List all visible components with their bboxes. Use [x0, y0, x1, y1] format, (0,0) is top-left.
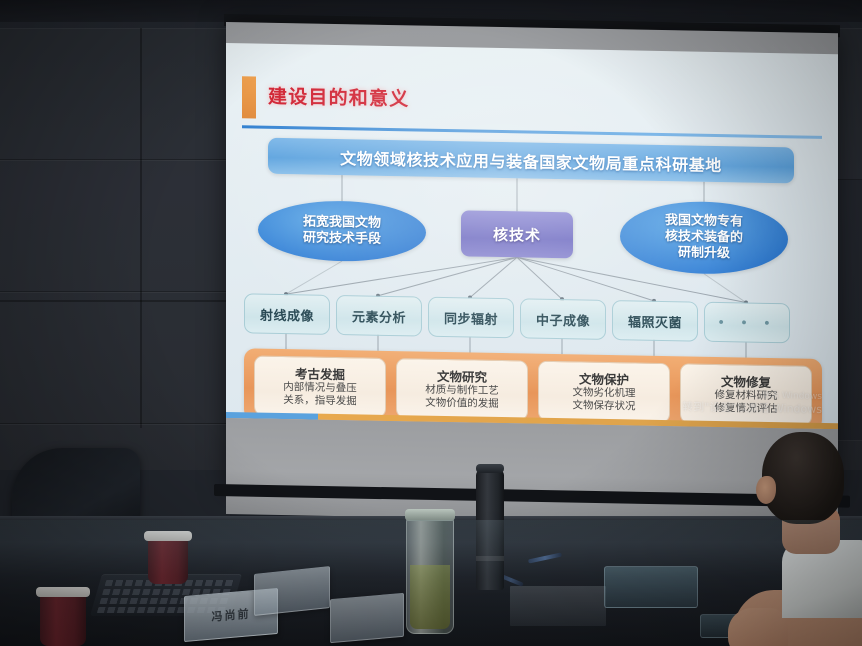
- person-ear: [756, 476, 776, 504]
- goal-left-line1: 拓宽我国文物: [303, 214, 381, 230]
- microphone-top: [476, 464, 504, 473]
- name-plate-text: 冯尚前: [212, 605, 251, 625]
- tech-box-5: 辐照灭菌: [612, 300, 698, 342]
- conference-microphone[interactable]: [476, 470, 504, 590]
- person-head: [762, 432, 844, 524]
- goal-right-line3: 研制升级: [678, 245, 730, 261]
- application-title: 文物修复: [721, 374, 771, 390]
- application-sub: 关系，指导发掘: [283, 394, 357, 408]
- coffee-cup[interactable]: [148, 538, 188, 584]
- application-title: 文物保护: [579, 371, 629, 387]
- application-sub: 文物保存状况: [573, 399, 636, 413]
- tablet-device[interactable]: [604, 566, 698, 608]
- paper-sheet: [510, 586, 606, 626]
- watermark-line-2: 转到"设置"以激活 Windows: [682, 401, 822, 417]
- goal-node-right: 我国文物专有 核技术装备的 研制升级: [620, 200, 788, 275]
- name-plate: [330, 593, 404, 643]
- goal-node-core: 核技术: [461, 210, 573, 258]
- attendee-person: [742, 432, 862, 646]
- tech-box-4: 中子成像: [520, 298, 606, 340]
- conference-room: 建设目的和意义 文物领域核技术应用与装备国家文物局重点科研基地 拓宽我国文物 研…: [0, 0, 862, 646]
- application-sub: 文物劣化机理: [573, 386, 636, 400]
- wall-seam: [140, 28, 142, 428]
- name-plate: [254, 566, 330, 616]
- application-sub: 文物价值的发掘: [425, 396, 499, 410]
- title-divider: [242, 125, 822, 139]
- slide-title: 建设目的和意义: [268, 82, 409, 112]
- tea-leaves: [410, 565, 450, 629]
- title-accent-bar: [242, 76, 256, 118]
- tech-box-3: 同步辐射: [428, 297, 514, 339]
- goal-node-left: 拓宽我国文物 研究技术手段: [258, 200, 426, 263]
- main-banner: 文物领域核技术应用与装备国家文物局重点科研基地: [268, 138, 794, 184]
- microphone-band: [476, 556, 504, 561]
- application-card-2: 文物研究 材质与制作工艺 文物价值的发掘: [396, 358, 528, 420]
- wall-seam: [0, 300, 226, 302]
- wall-panel: [834, 28, 862, 180]
- wall-panel: [0, 28, 230, 160]
- goal-left-line2: 研究技术手段: [303, 230, 381, 246]
- technology-row: 射线成像 元素分析 同步辐射 中子成像 辐照灭菌 • • •: [244, 293, 822, 342]
- person-hand: [728, 608, 788, 646]
- tech-box-ellipsis: • • •: [704, 302, 790, 344]
- goal-right-line2: 核技术装备的: [665, 229, 743, 245]
- glass-tea-tumbler[interactable]: [406, 516, 454, 634]
- application-title: 考古发掘: [295, 366, 345, 382]
- presentation-slide: 建设目的和意义 文物领域核技术应用与装备国家文物局重点科研基地 拓宽我国文物 研…: [226, 43, 838, 429]
- wall-panel: [0, 160, 230, 292]
- application-card-3: 文物保护 文物劣化机理 文物保存状况: [538, 361, 670, 423]
- coffee-cup[interactable]: [40, 594, 86, 646]
- tech-box-2: 元素分析: [336, 295, 422, 337]
- application-title: 文物研究: [437, 368, 487, 384]
- windows-activation-watermark: 激活 Windows 转到"设置"以激活 Windows: [682, 389, 822, 417]
- application-card-1: 考古发掘 内部情况与叠压 关系，指导发掘: [254, 356, 386, 418]
- goal-right-line1: 我国文物专有: [665, 213, 743, 229]
- tumbler-lid: [405, 509, 455, 521]
- tech-box-1: 射线成像: [244, 293, 330, 335]
- wall-panel: [0, 292, 230, 424]
